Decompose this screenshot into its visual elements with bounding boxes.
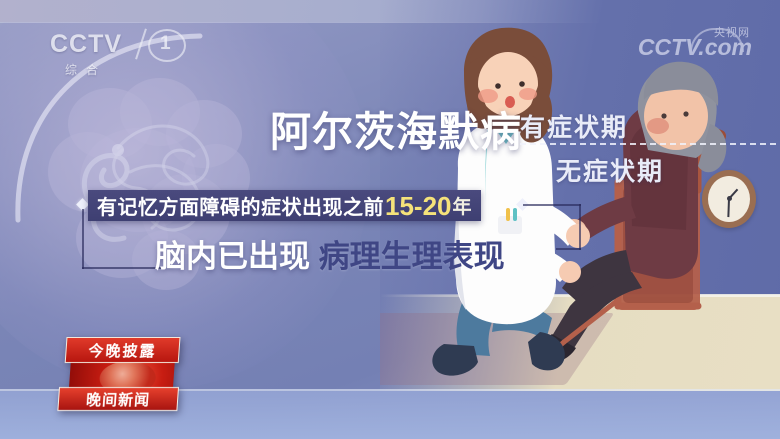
callout-years-unit: 年 (453, 192, 472, 219)
label-symptomatic-phase: 有症状期 (520, 108, 628, 144)
badge-top-banner: 今晚披露 (65, 337, 181, 363)
news-program-badge: 今晚披露 晚间新闻 (55, 337, 185, 409)
badge-bottom-banner: 晚间新闻 (57, 387, 179, 411)
callout-bracket-left (82, 209, 84, 269)
callout-years-value: 15-20 (385, 193, 452, 219)
callout-bracket-right-top (523, 204, 581, 206)
cctv-logo: CCTV 1 综合 (50, 30, 122, 78)
callout-bracket-left-foot (82, 267, 164, 269)
callout-banner: 有记忆方面障碍的症状出现之前 15-20 年 (88, 190, 481, 221)
cctv-channel-number: 1 (160, 33, 171, 55)
cctv-watermark: 央视网 CCTV.com (638, 34, 752, 61)
badge-bottom-label: 晚间新闻 (85, 389, 150, 410)
headline-disease-name: 阿尔茨海默病 (270, 98, 522, 158)
phase-divider-dashed (520, 143, 776, 145)
callout-line2-dark: 病理生理表现 (319, 239, 505, 274)
label-asymptomatic-phase: 无症状期 (556, 152, 664, 188)
callout-second-line: 脑内已出现 病理生理表现 (155, 231, 505, 276)
callout-bracket-right-foot (556, 248, 581, 250)
cctv-logo-text: CCTV (50, 30, 122, 59)
cctv-channel-name: 综合 (50, 61, 122, 78)
callout-line2-white: 脑内已出现 (155, 239, 310, 274)
callout-before-text: 有记忆方面障碍的症状出现之前 (97, 191, 384, 220)
watermark-site-cn: 央视网 (714, 24, 750, 40)
callout-bracket-right (579, 204, 581, 250)
broadcast-screenshot: CCTV 1 综合 央视网 CCTV.com 阿尔茨海默病 有症状期 无症状期 … (0, 0, 780, 439)
badge-top-label: 今晚披露 (88, 340, 157, 361)
